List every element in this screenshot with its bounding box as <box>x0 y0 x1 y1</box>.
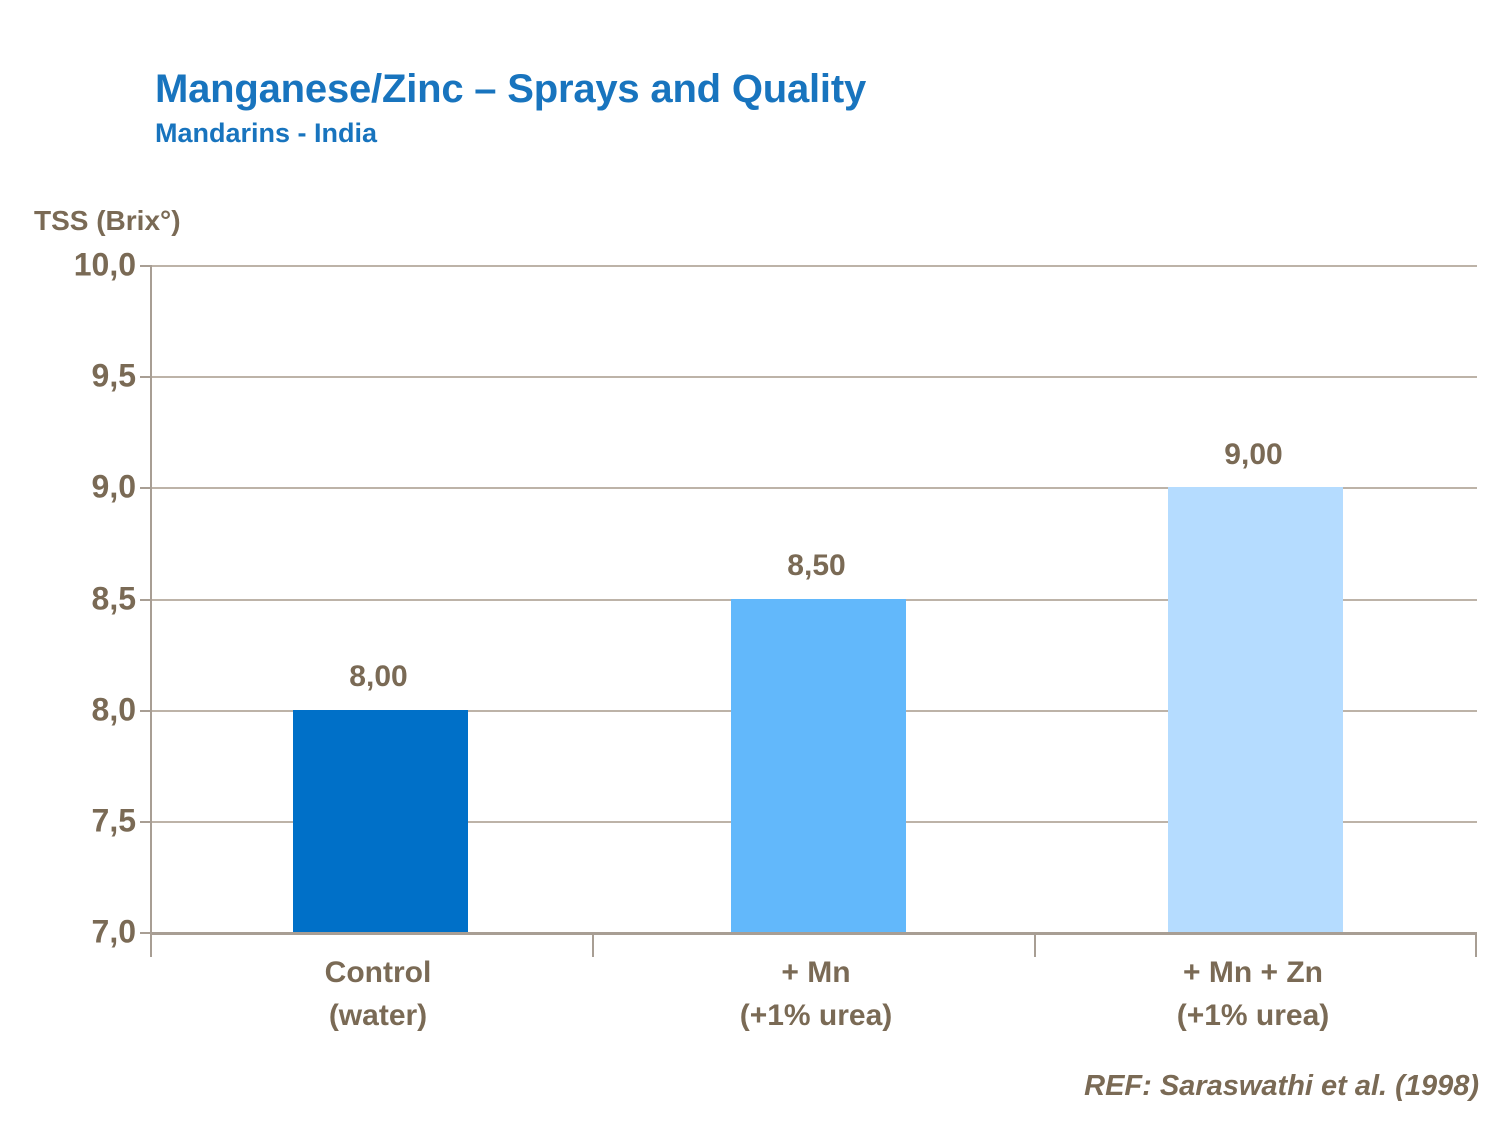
bar-value-mn: 8,50 <box>729 549 904 583</box>
x-tick-mark <box>150 932 152 957</box>
category-label-line2: (+1% urea) <box>666 995 966 1038</box>
y-axis-tick-labels: 10,0 9,5 9,0 8,5 8,0 7,5 7,0 <box>18 265 136 932</box>
bar-control[interactable] <box>293 710 468 932</box>
gridline-10-0 <box>152 265 1477 267</box>
y-tick-label: 9,0 <box>26 469 136 506</box>
category-label-line2: (+1% urea) <box>1103 995 1403 1038</box>
category-label-line1: + Mn <box>666 952 966 995</box>
category-label-control: Control (water) <box>228 952 528 1037</box>
x-tick-mark <box>1034 932 1036 957</box>
reference-footnote: REF: Saraswathi et al. (1998) <box>1084 1070 1479 1103</box>
y-tick-mark <box>140 265 152 267</box>
y-tick-label: 7,5 <box>26 802 136 839</box>
x-tick-mark <box>1475 932 1477 957</box>
y-tick-mark <box>140 376 152 378</box>
bar-value-mn-zn: 9,00 <box>1166 438 1341 472</box>
y-tick-label: 8,5 <box>26 580 136 617</box>
bar-mn[interactable] <box>731 599 906 933</box>
chart-plot-wrapper: 10,0 9,5 9,0 8,5 8,0 7,5 7,0 <box>0 0 1501 1126</box>
y-tick-mark <box>140 487 152 489</box>
category-label-line1: + Mn + Zn <box>1103 952 1403 995</box>
bar-value-control: 8,00 <box>291 660 466 694</box>
slide-canvas: Manganese/Zinc – Sprays and Quality Mand… <box>0 0 1501 1126</box>
plot-area <box>150 265 1475 932</box>
category-label-mn-zn: + Mn + Zn (+1% urea) <box>1103 952 1403 1037</box>
y-tick-label: 9,5 <box>26 358 136 395</box>
x-tick-mark <box>592 932 594 957</box>
y-tick-label: 10,0 <box>26 247 136 284</box>
y-tick-label: 8,0 <box>26 691 136 728</box>
category-label-line1: Control <box>228 952 528 995</box>
y-tick-mark <box>140 710 152 712</box>
gridline-9-5 <box>152 376 1477 378</box>
y-tick-mark <box>140 821 152 823</box>
bar-mn-zn[interactable] <box>1168 487 1343 932</box>
x-axis-line <box>152 932 1477 935</box>
y-tick-mark <box>140 599 152 601</box>
category-label-mn: + Mn (+1% urea) <box>666 952 966 1037</box>
y-tick-label: 7,0 <box>26 914 136 951</box>
category-label-line2: (water) <box>228 995 528 1038</box>
